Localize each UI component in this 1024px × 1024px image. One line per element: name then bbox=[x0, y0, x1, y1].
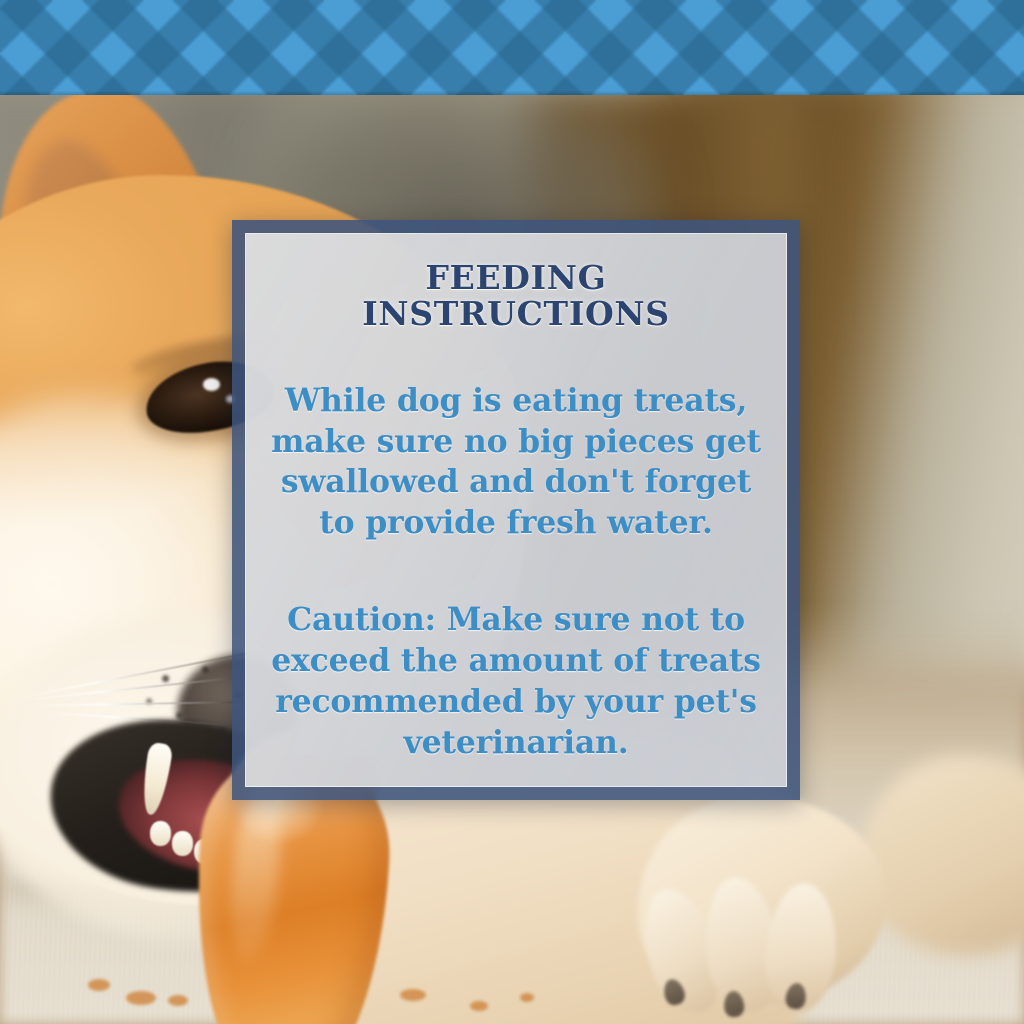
gingham-banner bbox=[0, 0, 1024, 95]
treat-crumb bbox=[88, 979, 110, 991]
card-inner-panel: FEEDING INSTRUCTIONS While dog is eating… bbox=[245, 233, 787, 787]
treat-crumb bbox=[520, 993, 534, 1002]
treat-crumb bbox=[470, 1001, 488, 1011]
instruction-paragraph-2: Caution: Make sure not to exceed the amo… bbox=[268, 600, 764, 764]
treat-crumb bbox=[126, 991, 156, 1005]
dog-incisor bbox=[172, 831, 193, 856]
treat-crumb bbox=[168, 995, 188, 1006]
feeding-instructions-card: FEEDING INSTRUCTIONS While dog is eating… bbox=[232, 220, 800, 800]
dog-eye-glint bbox=[203, 378, 220, 391]
banner-bottom-shadow bbox=[0, 91, 1024, 95]
poster-canvas: FEEDING INSTRUCTIONS While dog is eating… bbox=[0, 0, 1024, 1024]
instruction-paragraph-1: While dog is eating treats, make sure no… bbox=[268, 381, 764, 545]
dog-incisor bbox=[150, 821, 171, 846]
gingham-diagonal-stripes-b bbox=[0, 0, 1024, 95]
treat-crumb bbox=[400, 989, 426, 1001]
page-title: FEEDING INSTRUCTIONS bbox=[268, 260, 764, 333]
